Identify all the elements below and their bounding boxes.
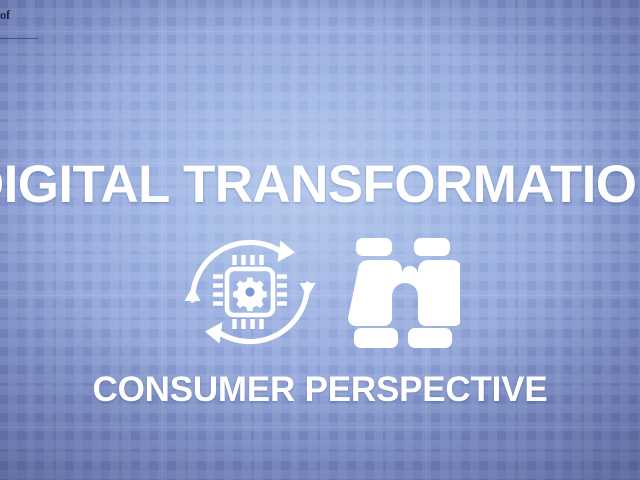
digital-transformation-icon xyxy=(180,224,320,360)
slide-subtitle: CONSUMER PERSPECTIVE xyxy=(0,370,640,410)
watermark-rule xyxy=(0,38,38,39)
binoculars-icon xyxy=(346,232,460,352)
university-logo-watermark: ty of en xyxy=(0,8,42,42)
watermark-line-1: ty of xyxy=(0,9,10,22)
slide-title: DIGITAL TRANSFORMATION xyxy=(0,157,640,213)
icon-row xyxy=(0,224,640,360)
presentation-slide: ty of en DIGITAL TRANSFORMATION xyxy=(0,0,640,480)
